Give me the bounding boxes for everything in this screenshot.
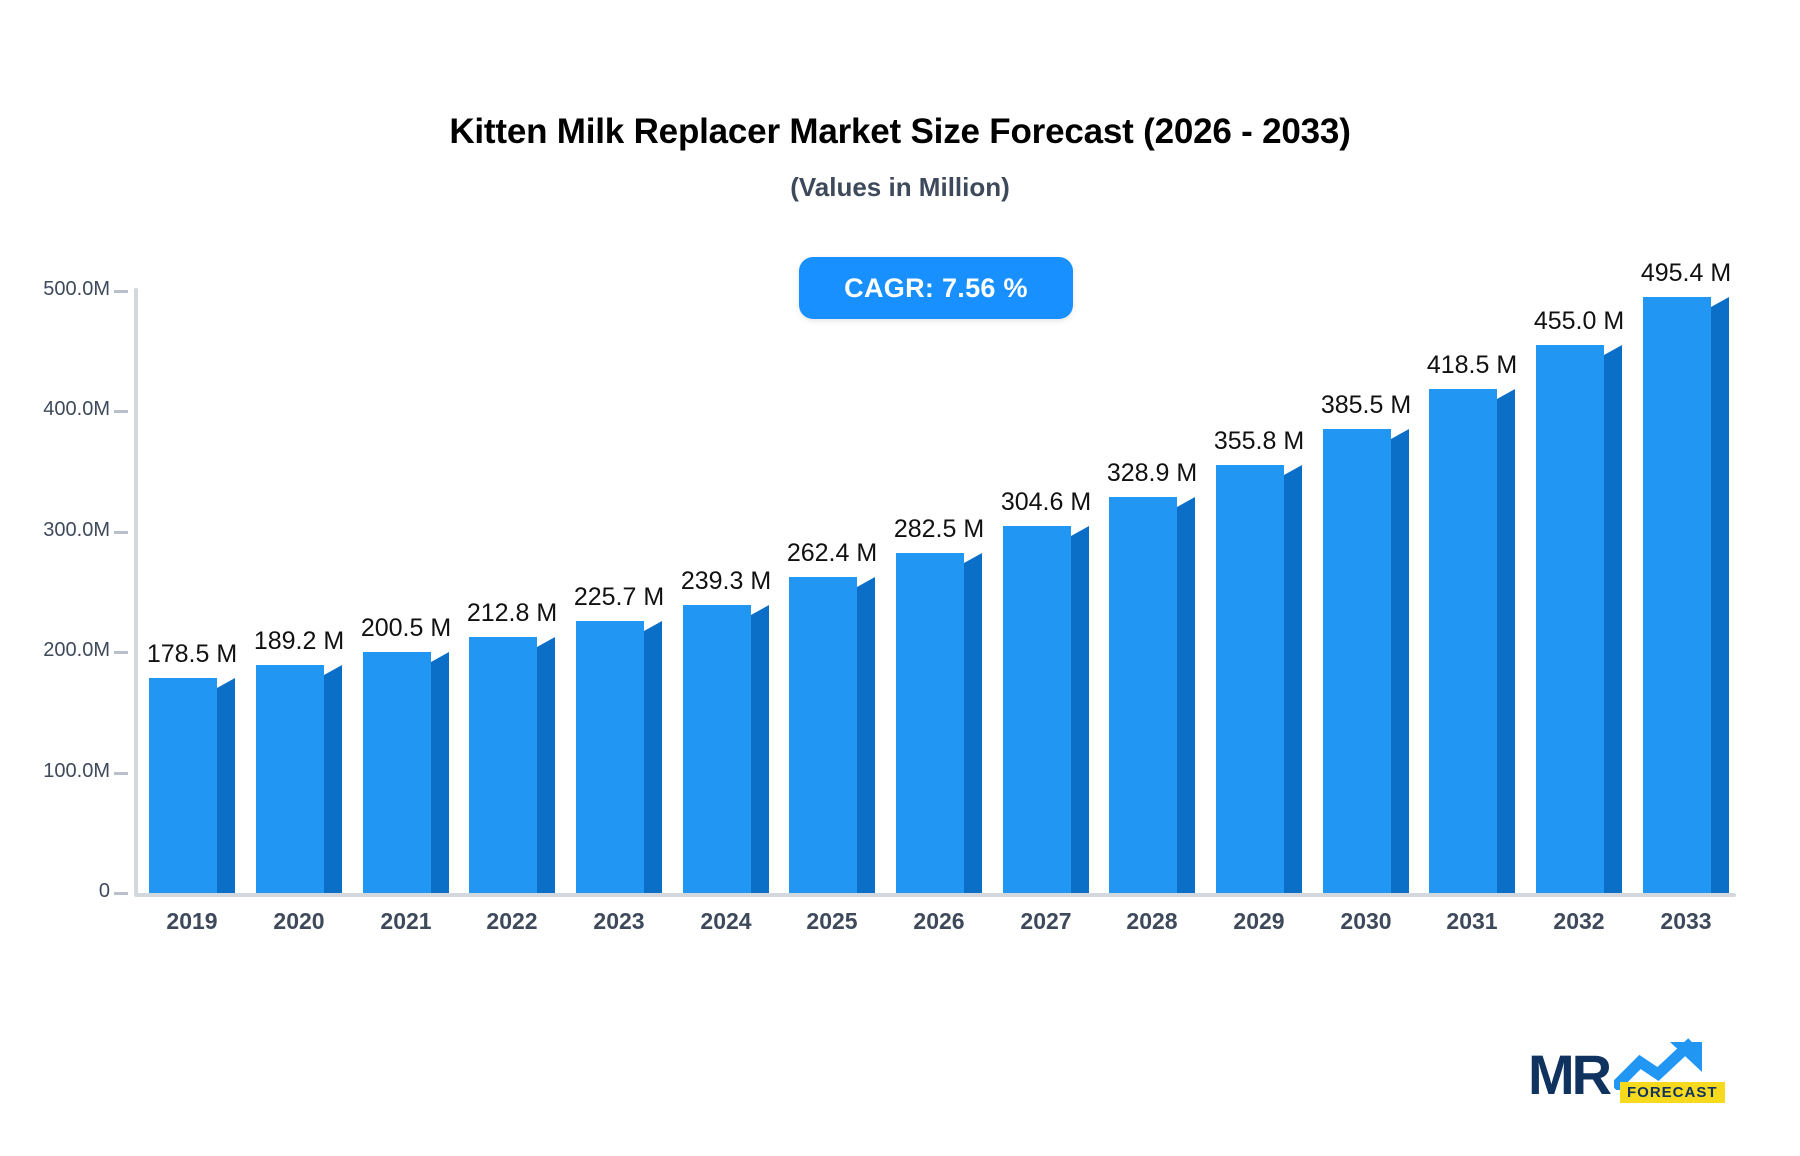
bar-top-face: [644, 621, 662, 631]
bar-value-label: 418.5 M: [1387, 351, 1557, 380]
bar-front-face: [1323, 429, 1391, 893]
bar-value-label: 385.5 M: [1281, 391, 1451, 420]
bar-front-face: [256, 665, 324, 893]
bar-column[interactable]: [1429, 389, 1515, 893]
bar-top-face: [751, 605, 769, 615]
bar-column[interactable]: [469, 637, 555, 893]
bar-front-face: [576, 621, 644, 893]
bar-side-face: [857, 587, 875, 893]
y-axis-tick-mark: [114, 772, 128, 775]
bar-column[interactable]: [576, 621, 662, 893]
bar-side-face: [1071, 536, 1089, 893]
y-axis-tick-label: 400.0M: [10, 398, 110, 421]
bar-side-face: [751, 615, 769, 893]
bar-value-label: 328.9 M: [1067, 459, 1237, 488]
bar-front-face: [149, 678, 217, 893]
bar-value-label: 282.5 M: [854, 515, 1024, 544]
x-axis-tick-label: 2028: [1092, 908, 1212, 935]
bar-side-face: [324, 675, 342, 893]
bar-value-label: 455.0 M: [1494, 307, 1664, 336]
bar-front-face: [1003, 526, 1071, 893]
bar-top-face: [537, 637, 555, 647]
bar-top-face: [1711, 297, 1729, 307]
bar-side-face: [1284, 475, 1302, 893]
bar-side-face: [431, 662, 449, 893]
x-axis-tick-label: 2029: [1199, 908, 1319, 935]
bar-top-face: [857, 577, 875, 587]
bar-column[interactable]: [1109, 497, 1195, 893]
bar-top-face: [324, 665, 342, 675]
y-axis-tick-label: 0: [10, 880, 110, 903]
mr-forecast-logo: MR FORECAST: [1528, 1036, 1728, 1116]
y-axis-tick-label: 500.0M: [10, 278, 110, 301]
y-axis-tick-label: 200.0M: [10, 639, 110, 662]
bar-value-label: 495.4 M: [1601, 259, 1771, 288]
y-axis-line: [134, 288, 138, 895]
bar-top-face: [1497, 389, 1515, 399]
bar-front-face: [1216, 465, 1284, 893]
bar-side-face: [1711, 307, 1729, 893]
bar-front-face: [1643, 297, 1711, 893]
bar-front-face: [683, 605, 751, 893]
x-axis-tick-label: 2025: [772, 908, 892, 935]
bar-front-face: [1429, 389, 1497, 893]
bar-front-face: [896, 553, 964, 893]
x-axis-tick-label: 2024: [666, 908, 786, 935]
plot-area: 0100.0M200.0M300.0M400.0M500.0M 178.5 M1…: [0, 0, 1800, 1156]
bar-top-face: [1604, 345, 1622, 355]
x-axis-tick-label: 2032: [1519, 908, 1639, 935]
bar-column[interactable]: [896, 553, 982, 893]
bar-side-face: [644, 631, 662, 893]
x-axis-tick-label: 2020: [239, 908, 359, 935]
bar-column[interactable]: [1643, 297, 1729, 893]
y-axis-tick-label: 100.0M: [10, 760, 110, 783]
bar-top-face: [1391, 429, 1409, 439]
bar-value-label: 239.3 M: [641, 567, 811, 596]
bar-column[interactable]: [363, 652, 449, 893]
y-axis-tick-label: 300.0M: [10, 519, 110, 542]
bar-front-face: [469, 637, 537, 893]
x-axis-line: [134, 893, 1736, 897]
bar-value-label: 355.8 M: [1174, 427, 1344, 456]
y-axis-tick-mark: [114, 892, 128, 895]
bar-column[interactable]: [1323, 429, 1409, 893]
bar-top-face: [217, 678, 235, 688]
bar-side-face: [537, 647, 555, 893]
x-axis-tick-label: 2030: [1306, 908, 1426, 935]
bar-column[interactable]: [256, 665, 342, 893]
logo-wordmark: MR: [1528, 1042, 1609, 1107]
bar-column[interactable]: [789, 577, 875, 893]
y-axis-tick-mark: [114, 531, 128, 534]
bar-column[interactable]: [1216, 465, 1302, 893]
bar-side-face: [1391, 439, 1409, 893]
x-axis-tick-label: 2021: [346, 908, 466, 935]
bar-value-label: 304.6 M: [961, 488, 1131, 517]
bar-top-face: [1177, 497, 1195, 507]
x-axis-tick-label: 2019: [132, 908, 252, 935]
bar-column[interactable]: [683, 605, 769, 893]
y-axis-tick-mark: [114, 290, 128, 293]
logo-caption: FORECAST: [1620, 1082, 1725, 1103]
bar-side-face: [964, 563, 982, 893]
bar-side-face: [217, 688, 235, 893]
bar-front-face: [1109, 497, 1177, 893]
x-axis-tick-label: 2022: [452, 908, 572, 935]
bar-column[interactable]: [1536, 345, 1622, 893]
y-axis-tick-mark: [114, 410, 128, 413]
bar-side-face: [1177, 507, 1195, 893]
bar-column[interactable]: [149, 678, 235, 893]
bar-front-face: [1536, 345, 1604, 893]
bar-top-face: [964, 553, 982, 563]
bar-top-face: [1071, 526, 1089, 536]
x-axis-tick-label: 2031: [1412, 908, 1532, 935]
bar-column[interactable]: [1003, 526, 1089, 893]
bar-side-face: [1497, 399, 1515, 893]
x-axis-tick-label: 2023: [559, 908, 679, 935]
bar-front-face: [363, 652, 431, 893]
x-axis-tick-label: 2026: [879, 908, 999, 935]
bar-top-face: [1284, 465, 1302, 475]
x-axis-tick-label: 2033: [1626, 908, 1746, 935]
x-axis-tick-label: 2027: [986, 908, 1106, 935]
bar-side-face: [1604, 355, 1622, 893]
bar-front-face: [789, 577, 857, 893]
bar-top-face: [431, 652, 449, 662]
